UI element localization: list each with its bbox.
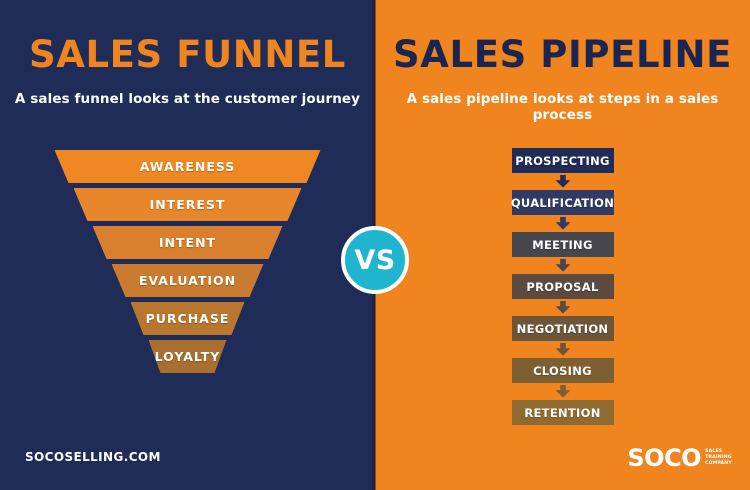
panel-subtitle-sales-pipeline: A sales pipeline looks at steps in a sal… <box>375 91 750 123</box>
pipeline-stage-proposal: PROPOSAL <box>512 274 614 299</box>
pipeline-stage-label: MEETING <box>532 238 592 252</box>
pipeline-stage-label: NEGOTIATION <box>517 322 609 336</box>
soco-logo-wordmark: SOCO <box>627 446 701 470</box>
arrow-down-icon <box>555 259 571 272</box>
funnel-segment-interest: INTEREST <box>74 188 302 221</box>
funnel-segment-awareness: AWARENESS <box>55 150 321 183</box>
pipeline-stage-retention: RETENTION <box>512 400 614 425</box>
funnel-stage: LOYALTY <box>0 340 375 373</box>
funnel-stage: EVALUATION <box>0 264 375 297</box>
sales-funnel-panel: SALES FUNNEL A sales funnel looks at the… <box>0 0 375 490</box>
pipeline-stage-label: QUALIFICATION <box>511 196 614 210</box>
arrow-down-icon <box>555 175 571 188</box>
pipeline-stage-negotiation: NEGOTIATION <box>512 316 614 341</box>
pipeline-stage-closing: CLOSING <box>512 358 614 383</box>
funnel-diagram: AWARENESSINTERESTINTENTEVALUATIONPURCHAS… <box>0 150 375 378</box>
funnel-segment-label: INTEREST <box>150 197 226 212</box>
pipeline-stage-label: CLOSING <box>533 364 592 378</box>
funnel-segment-intent: INTENT <box>93 226 283 259</box>
arrow-down-icon <box>555 385 571 398</box>
funnel-stage: AWARENESS <box>0 150 375 183</box>
funnel-segment-label: PURCHASE <box>146 311 230 326</box>
pipeline-stage-label: PROPOSAL <box>526 280 598 294</box>
pipeline-stage-qualification: QUALIFICATION <box>512 190 614 215</box>
soco-logo-tagline: SALES TRAINING COMPANY <box>705 449 732 467</box>
arrow-down-icon <box>555 301 571 314</box>
funnel-segment-label: INTENT <box>159 235 216 250</box>
vs-badge: VS <box>341 226 409 294</box>
panel-title-sales-pipeline: SALES PIPELINE <box>375 36 750 73</box>
funnel-stage: INTEREST <box>0 188 375 221</box>
soco-logo: SOCO SALES TRAINING COMPANY <box>627 446 732 470</box>
panel-title-sales-funnel: SALES FUNNEL <box>0 36 375 73</box>
funnel-segment-label: LOYALTY <box>155 349 221 364</box>
funnel-segment-loyalty: LOYALTY <box>149 340 227 373</box>
pipeline-stage-label: RETENTION <box>524 406 600 420</box>
funnel-segment-label: AWARENESS <box>140 159 236 174</box>
arrow-down-icon <box>555 343 571 356</box>
infographic-canvas: SALES FUNNEL A sales funnel looks at the… <box>0 0 750 490</box>
site-url-label: SOCOSELLING.COM <box>25 450 161 464</box>
arrow-down-icon <box>555 217 571 230</box>
funnel-stage: PURCHASE <box>0 302 375 335</box>
pipeline-stage-label: PROSPECTING <box>515 154 610 168</box>
pipeline-stage-prospecting: PROSPECTING <box>512 148 614 173</box>
soco-tagline-line-3: COMPANY <box>705 461 732 467</box>
panel-subtitle-sales-funnel: A sales funnel looks at the customer jou… <box>0 91 375 107</box>
funnel-segment-label: EVALUATION <box>139 273 236 288</box>
funnel-segment-evaluation: EVALUATION <box>112 264 264 297</box>
funnel-segment-purchase: PURCHASE <box>131 302 245 335</box>
pipeline-diagram: PROSPECTINGQUALIFICATIONMEETINGPROPOSALN… <box>375 148 750 425</box>
funnel-stage: INTENT <box>0 226 375 259</box>
pipeline-stage-meeting: MEETING <box>512 232 614 257</box>
vs-badge-label: VS <box>354 247 395 274</box>
